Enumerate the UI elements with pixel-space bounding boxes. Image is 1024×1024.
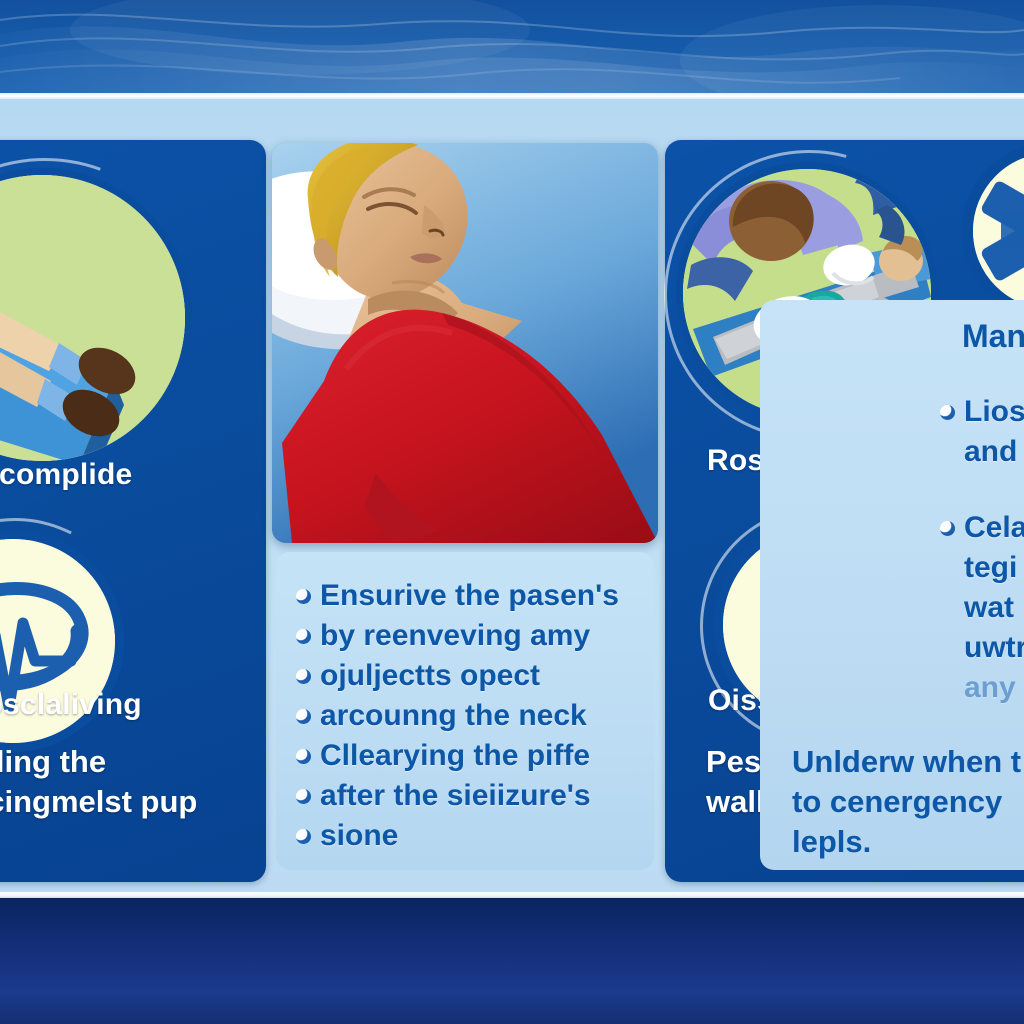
list-item-label: Ensurive the pasen's — [320, 576, 619, 616]
right-footer-line-1: Unlderw when t — [792, 742, 1021, 782]
list-item: sione — [296, 816, 619, 856]
list-item-continuation: and — [940, 432, 1024, 472]
list-item-label: by reenveving amy — [320, 616, 590, 656]
poster-root: g complide posclaliving lyling the ecing… — [0, 0, 1024, 1024]
bullet-dot-icon — [296, 749, 311, 764]
list-item: after the sieiizure's — [296, 776, 619, 816]
bullet-dot-icon — [296, 629, 311, 644]
unconscious-person-photo — [272, 143, 658, 543]
left-caption-top: g complide — [0, 458, 132, 492]
list-item-continuation: wat — [940, 588, 1024, 628]
list-item: Ensurive the pasen's — [296, 576, 619, 616]
right-card-footer: Unlderw when t to cenergency lepls. — [792, 742, 1021, 862]
list-item-label: Cllearying the piffe — [320, 736, 590, 776]
right-footer-line-2: to cenergency — [792, 782, 1021, 822]
left-body-line-2: ecingmelst pup — [0, 782, 197, 822]
bullet-dot-icon — [296, 669, 311, 684]
list-item-label: arcounng the neck — [320, 696, 587, 736]
bullet-dot-icon — [940, 521, 955, 536]
bullet-dot-icon — [296, 789, 311, 804]
left-body-text: lyling the ecingmelst pup — [0, 742, 197, 822]
list-item-label: ojuljectts opect — [320, 656, 540, 696]
list-item-continuation: tegi — [940, 548, 1024, 588]
right-bullet-list: Lios and Cela tegi wat uwtr any — [940, 392, 1024, 708]
bullet-dot-icon — [296, 709, 311, 724]
star-of-life-graphic — [973, 153, 1024, 309]
left-body-line-1: lyling the — [0, 742, 197, 782]
list-item-label: after the sieiizure's — [320, 776, 591, 816]
list-item: ojuljectts opect — [296, 656, 619, 696]
list-item: arcounng the neck — [296, 696, 619, 736]
right-card-title: Man — [962, 318, 1024, 355]
center-bullet-list: Ensurive the pasen's by reenveving amy o… — [296, 576, 619, 856]
list-item: by reenveving amy — [296, 616, 619, 656]
left-caption-bottom: posclaliving — [0, 688, 142, 722]
bullet-dot-icon — [940, 405, 955, 420]
unconscious-person-graphic — [272, 143, 658, 543]
bullet-dot-icon — [296, 589, 311, 604]
list-item-label: sione — [320, 816, 398, 856]
bullet-dot-icon — [296, 829, 311, 844]
list-item: Cela — [940, 508, 1024, 548]
list-item-label: Cela — [964, 508, 1024, 548]
list-item-continuation: any — [940, 668, 1024, 708]
list-item: Cllearying the piffe — [296, 736, 619, 776]
top-wave-banner — [0, 0, 1024, 96]
list-item-label: Lios — [964, 392, 1024, 432]
list-spacer — [940, 472, 1024, 508]
wave-graphic — [0, 0, 1024, 96]
right-footer-line-3: lepls. — [792, 822, 1021, 862]
list-item-continuation: uwtr — [940, 628, 1024, 668]
bottom-banner — [0, 898, 1024, 1024]
list-item: Lios — [940, 392, 1024, 432]
